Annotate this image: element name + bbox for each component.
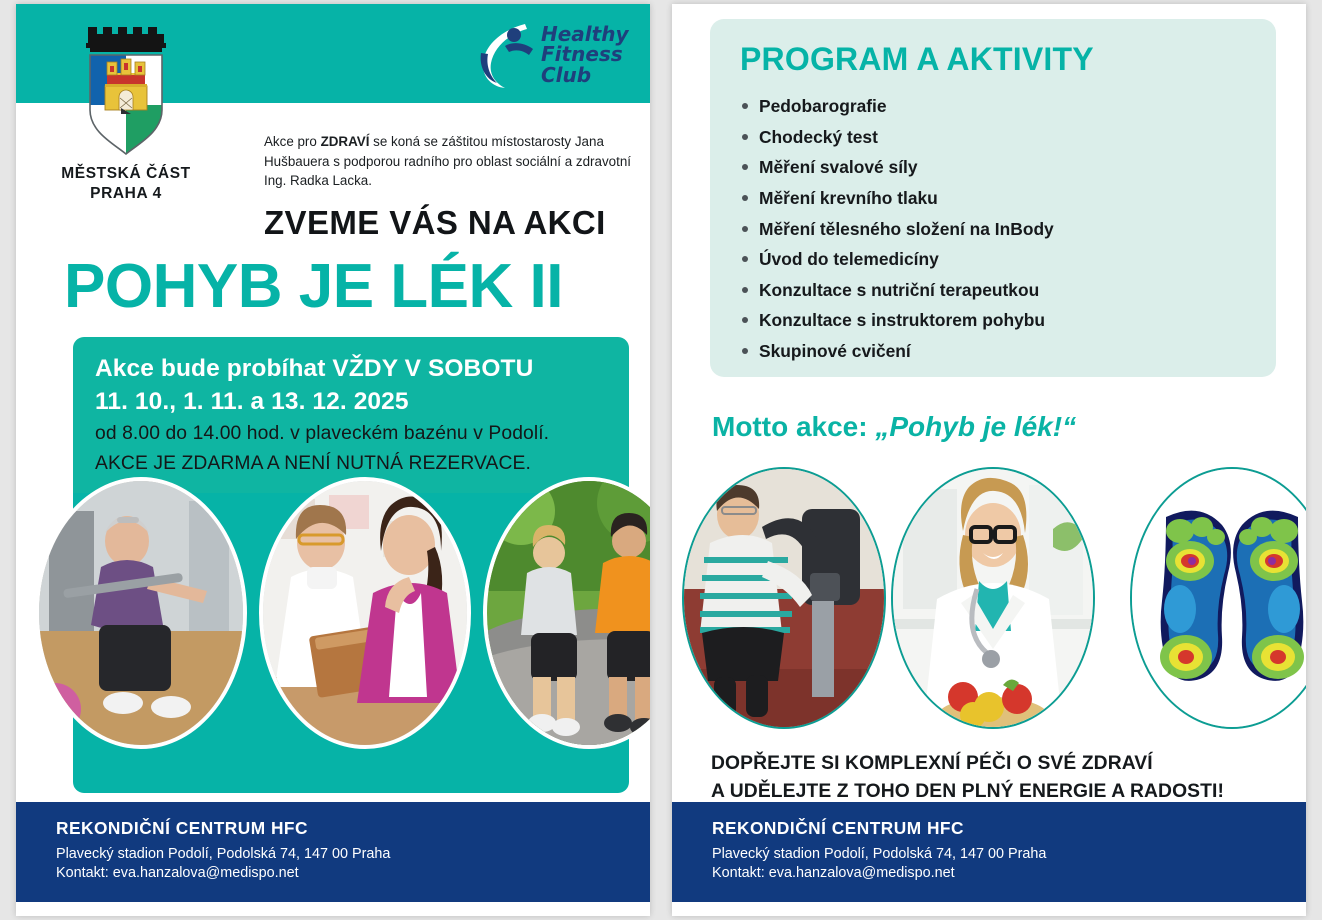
program-title: PROGRAM A AKTIVITY <box>740 41 1246 78</box>
list-item: Konzultace s instruktorem pohybu <box>740 305 1246 336</box>
program-box: PROGRAM A AKTIVITY Pedobarografie Chodec… <box>710 19 1276 377</box>
program-list: Pedobarografie Chodecký test Měření sval… <box>740 91 1246 367</box>
photo-smiling-nutritionist-with-fruit <box>891 467 1095 729</box>
bullet-icon <box>742 103 748 109</box>
list-item: Měření svalové síly <box>740 152 1246 183</box>
poster-stage: MĚSTSKÁ ČÁST PRAHA 4 Healthy Fitness Clu… <box>0 0 1322 920</box>
bullet-icon <box>742 195 748 201</box>
footer-address: Plavecký stadion Podolí, Podolská 74, 14… <box>712 845 1266 865</box>
gym-photo-illustration <box>39 481 243 745</box>
page-title: POHYB JE LÉK II <box>64 251 563 322</box>
flyer-page-right: PROGRAM A AKTIVITY Pedobarografie Chodec… <box>672 4 1306 916</box>
event-free-line: AKCE JE ZDARMA A NENÍ NUTNÁ REZERVACE. <box>95 450 607 477</box>
photo-doctor-consulting-woman-with-clipboard <box>259 477 471 749</box>
list-item: Chodecký test <box>740 122 1246 153</box>
footprint-pressure-map-icon <box>1132 469 1306 727</box>
list-item: Konzultace s nutriční terapeutkou <box>740 275 1246 306</box>
nutritionist-photo-illustration <box>893 469 1093 727</box>
bullet-icon <box>742 348 748 354</box>
footer-right: REKONDIČNÍ CENTRUM HFC Plavecký stadion … <box>672 802 1306 902</box>
program-item-label: Pedobarografie <box>759 96 887 116</box>
left-photo-band <box>73 493 629 793</box>
event-details-box: Akce bude probíhat VŽDY V SOBOTU 11. 10.… <box>73 337 629 493</box>
intro-paragraph: Akce pro ZDRAVÍ se koná se záštitou míst… <box>264 132 636 191</box>
footer-address: Plavecký stadion Podolí, Podolská 74, 14… <box>56 845 610 865</box>
running-figure-icon <box>479 21 541 95</box>
photo-two-people-walking-outdoors <box>483 477 650 749</box>
closing-message: DOPŘEJTE SI KOMPLEXNÍ PÉČI O SVÉ ZDRAVÍ … <box>711 750 1291 806</box>
motto-prefix: Motto akce: <box>712 411 875 442</box>
exercise-bike-photo-illustration <box>684 469 884 727</box>
bullet-icon <box>742 134 748 140</box>
program-item-label: Chodecký test <box>759 127 878 147</box>
photo-pedobarography-footprint-scan <box>1130 467 1306 729</box>
event-motto: Motto akce: „Pohyb je lék!“ <box>712 411 1076 443</box>
list-item: Skupinové cvičení <box>740 336 1246 367</box>
program-item-label: Měření svalové síly <box>759 157 918 177</box>
invitation-kicker: ZVEME VÁS NA AKCI <box>264 204 606 242</box>
footer-left: REKONDIČNÍ CENTRUM HFC Plavecký stadion … <box>16 802 650 902</box>
crest-label-line2: PRAHA 4 <box>61 184 191 204</box>
bullet-icon <box>742 317 748 323</box>
crest-label: MĚSTSKÁ ČÁST PRAHA 4 <box>61 164 191 204</box>
list-item: Měření krevního tlaku <box>740 183 1246 214</box>
intro-strong: ZDRAVÍ <box>321 134 370 149</box>
event-days-line: Akce bude probíhat VŽDY V SOBOTU <box>95 353 607 386</box>
bullet-icon <box>742 164 748 170</box>
program-item-label: Měření tělesného složení na InBody <box>759 219 1054 239</box>
event-dates-line: 11. 10., 1. 11. a 13. 12. 2025 <box>95 386 607 419</box>
logo-line-1: Healthy <box>541 24 629 44</box>
bullet-icon <box>742 256 748 262</box>
event-hours-line: od 8.00 do 14.00 hod. v plaveckém bazénu… <box>95 420 607 447</box>
photo-woman-on-exercise-bike <box>682 467 886 729</box>
right-photo-band <box>682 467 1306 735</box>
healthy-fitness-club-wordmark: Healthy Fitness Club <box>541 24 629 85</box>
list-item: Pedobarografie <box>740 91 1246 122</box>
municipality-crest: MĚSTSKÁ ČÁST PRAHA 4 <box>61 18 191 204</box>
intro-pre: Akce pro <box>264 134 321 149</box>
closing-line-1: DOPŘEJTE SI KOMPLEXNÍ PÉČI O SVÉ ZDRAVÍ <box>711 750 1291 778</box>
footer-title: REKONDIČNÍ CENTRUM HFC <box>712 818 1266 839</box>
footer-contact: Kontakt: eva.hanzalova@medispo.net <box>712 864 1266 884</box>
footer-contact: Kontakt: eva.hanzalova@medispo.net <box>56 864 610 884</box>
healthy-fitness-club-logo: Healthy Fitness Club <box>479 21 624 97</box>
walking-photo-illustration <box>487 481 650 745</box>
bullet-icon <box>742 226 748 232</box>
program-item-label: Konzultace s nutriční terapeutkou <box>759 280 1039 300</box>
list-item: Úvod do telemedicíny <box>740 244 1246 275</box>
consultation-photo-illustration <box>263 481 467 745</box>
program-item-label: Úvod do telemedicíny <box>759 249 939 269</box>
logo-line-2: Fitness <box>541 44 629 64</box>
prague-4-coat-of-arms-icon <box>74 18 178 158</box>
crest-label-line1: MĚSTSKÁ ČÁST <box>61 164 191 184</box>
photo-senior-woman-on-gym-machine <box>35 477 247 749</box>
bullet-icon <box>742 287 748 293</box>
logo-line-3: Club <box>541 65 629 85</box>
program-item-label: Skupinové cvičení <box>759 341 911 361</box>
motto-quote: „Pohyb je lék!“ <box>875 411 1076 442</box>
flyer-page-left: MĚSTSKÁ ČÁST PRAHA 4 Healthy Fitness Clu… <box>16 4 650 916</box>
list-item: Měření tělesného složení na InBody <box>740 214 1246 245</box>
footer-title: REKONDIČNÍ CENTRUM HFC <box>56 818 610 839</box>
program-item-label: Měření krevního tlaku <box>759 188 938 208</box>
program-item-label: Konzultace s instruktorem pohybu <box>759 310 1045 330</box>
